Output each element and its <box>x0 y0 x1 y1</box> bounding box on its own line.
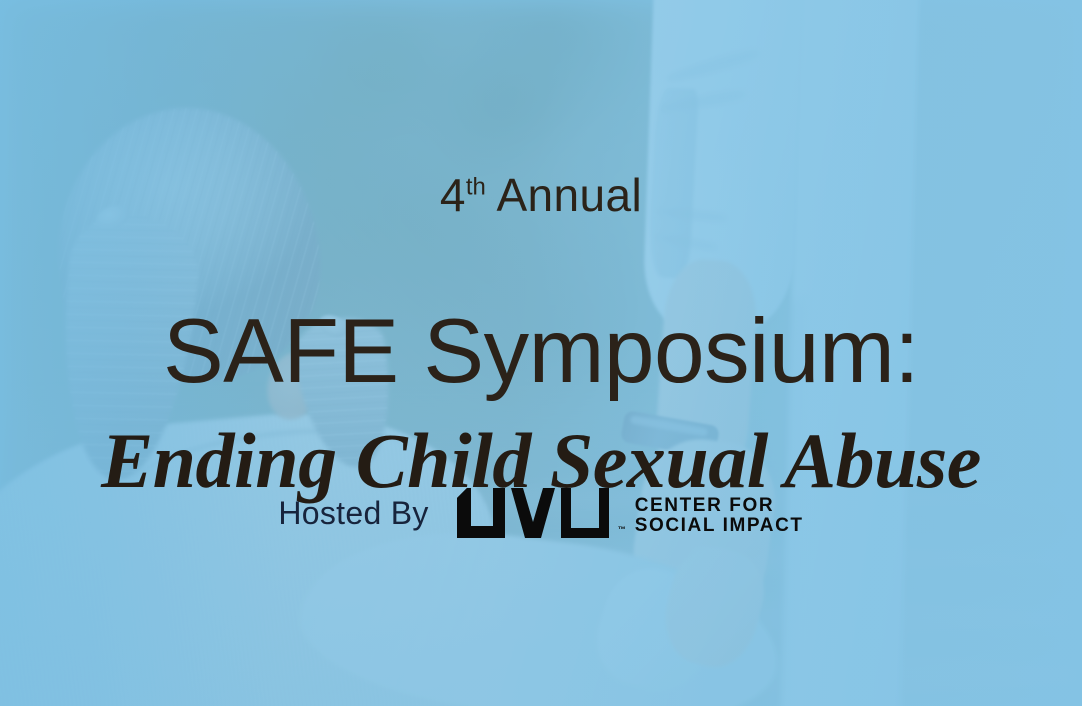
hosted-by-label: Hosted By <box>278 495 428 532</box>
uvu-wordmark-icon <box>457 488 609 538</box>
event-banner: 4th Annual SAFE Symposium: Ending Child … <box>0 0 1082 706</box>
eyebrow-ordinal: 4 <box>440 169 466 221</box>
eyebrow-text: 4th Annual <box>0 168 1082 222</box>
trademark-symbol: ™ <box>618 525 626 534</box>
eyebrow-word: Annual <box>496 169 642 221</box>
uvu-center-for-social-impact-logo: ™ CENTER FOR SOCIAL IMPACT <box>457 488 804 538</box>
page-title: SAFE Symposium: <box>0 304 1082 400</box>
org-line-2: SOCIAL IMPACT <box>635 516 804 537</box>
eyebrow-ordinal-suffix: th <box>466 174 486 201</box>
hosted-by-row: Hosted By <box>0 488 1082 538</box>
org-line-1: CENTER FOR <box>635 496 804 517</box>
banner-content: 4th Annual SAFE Symposium: Ending Child … <box>0 0 1082 706</box>
center-for-social-impact-lockup: CENTER FOR SOCIAL IMPACT <box>635 496 804 537</box>
